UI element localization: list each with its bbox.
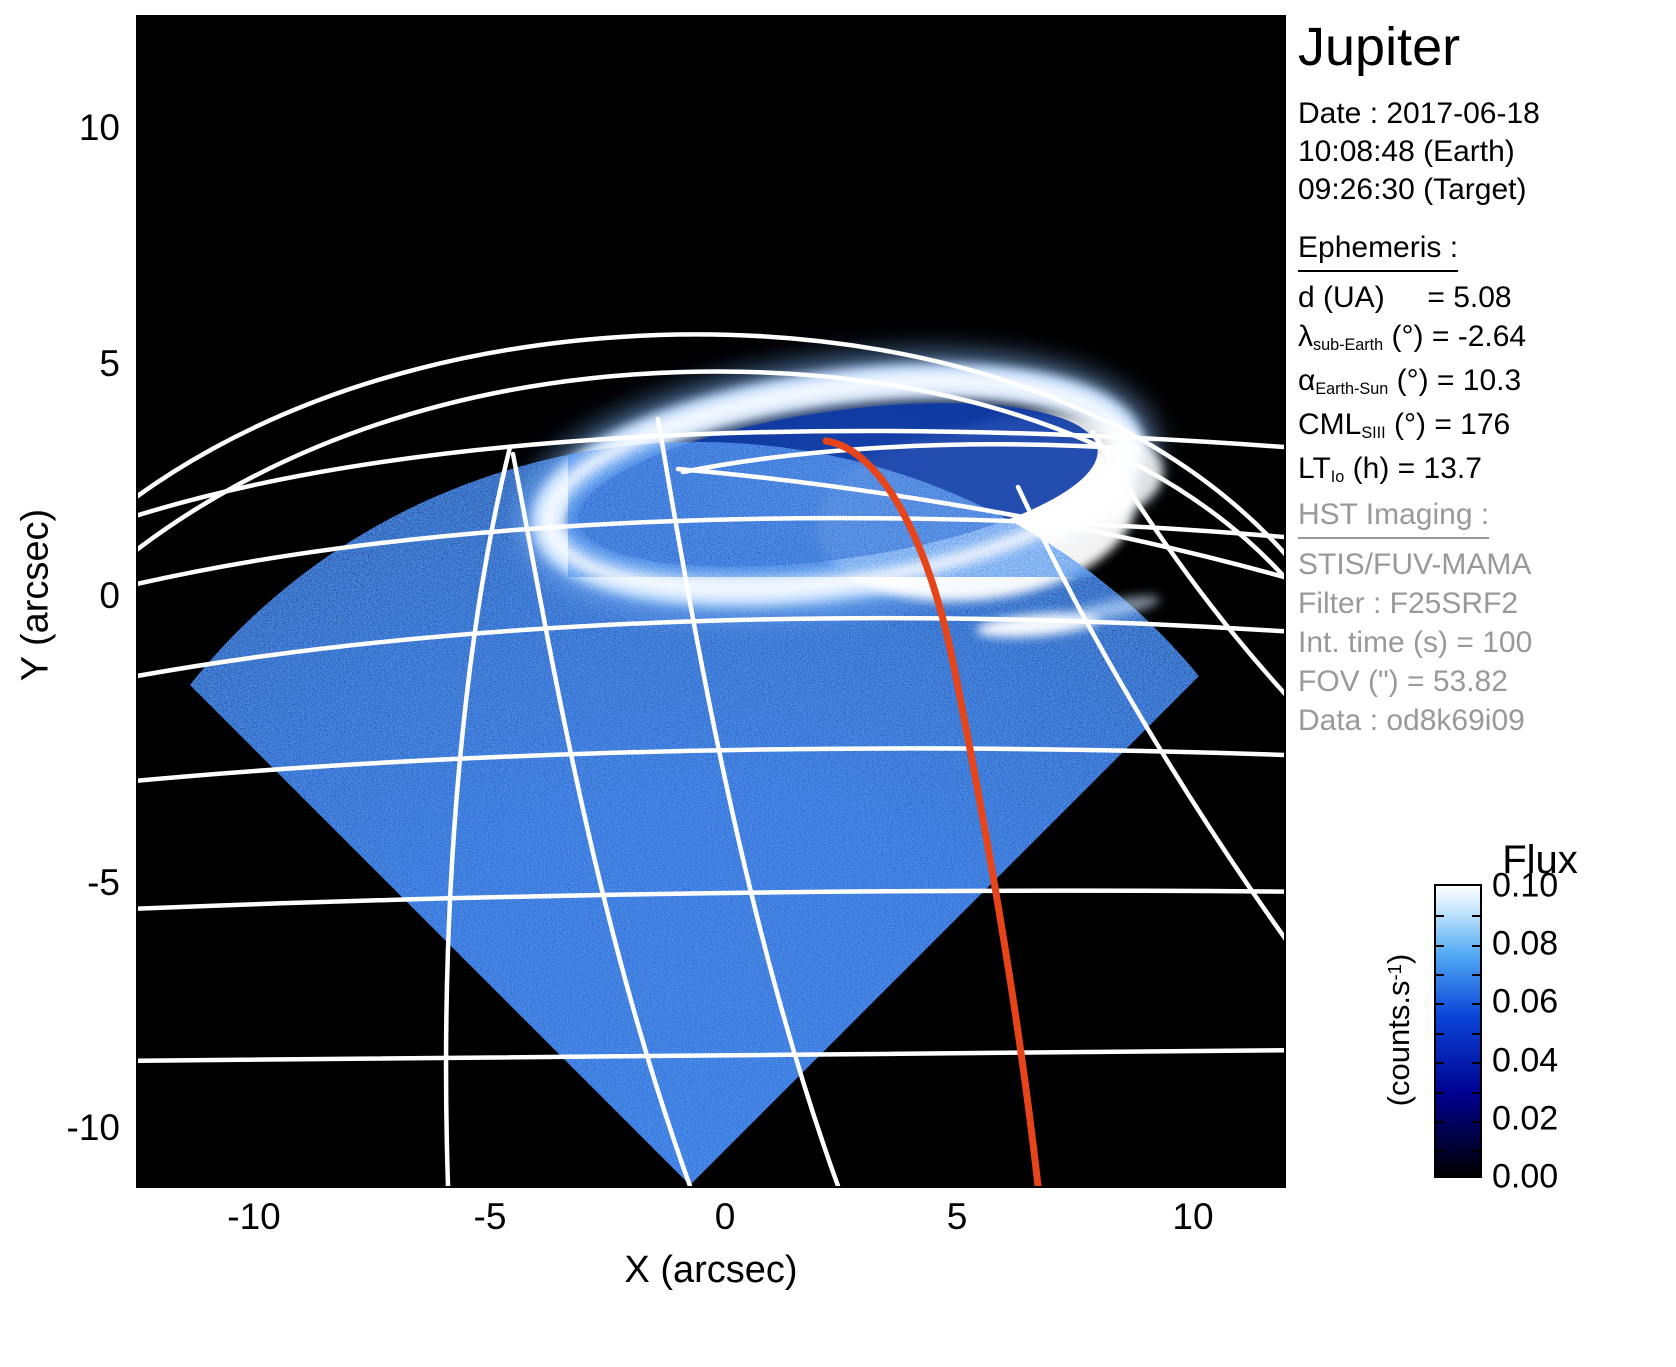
aurora-image-plot [138,17,1284,1186]
target-time-line: 09:26:30 (Target) [1298,171,1540,209]
ephemeris-subscript: Earth-Sun [1315,380,1388,398]
jupiter-fuv-image [138,17,1284,1186]
ephemeris-value: = 5.08 [1427,281,1511,314]
hst-filter: Filter : F25SRF2 [1298,584,1532,623]
page-title: Jupiter [1298,16,1460,78]
x-tick-label: -5 [410,1196,570,1238]
colorbar-tick-label: 0.08 [1492,925,1558,964]
hst-imaging-block: HST Imaging : STIS/FUV-MAMA Filter : F25… [1298,495,1532,740]
y-tick-label: 5 [0,343,120,385]
ephemeris-unit: (°) [1394,408,1426,441]
date-line: Date : 2017-06-18 [1298,95,1540,133]
ephemeris-row-io-local-time: LTIo (h) = 13.7 [1298,449,1526,493]
ephemeris-symbol: d [1298,281,1315,314]
ephemeris-value: = -2.64 [1432,320,1526,353]
ephemeris-symbol: α [1298,364,1315,397]
ephemeris-row-phase-angle: αEarth-Sun (°) = 10.3 [1298,361,1526,405]
x-axis-title: X (arcsec) [624,1249,797,1292]
colorbar-axis-title: (counts.s-1) [1381,954,1417,1107]
hst-data-id: Data : od8k69i09 [1298,701,1532,740]
y-tick-label: -10 [0,1107,120,1149]
x-tick-label: -10 [174,1196,334,1238]
ephemeris-row-sub-earth-lat: λsub-Earth (°) = -2.64 [1298,317,1526,361]
ephemeris-row-cml: CMLSIII (°) = 176 [1298,405,1526,449]
colorbar-tick-label: 0.06 [1492,983,1558,1022]
observation-date-block: Date : 2017-06-18 10:08:48 (Earth) 09:26… [1298,95,1540,209]
colorbar-tick-label: 0.00 [1492,1158,1558,1197]
ephemeris-block: Ephemeris : d (UA) = 5.08 λsub-Earth (°)… [1298,228,1526,493]
colorbar-tick-label: 0.10 [1492,867,1558,906]
colorbar-tick-label: 0.02 [1492,1100,1558,1139]
x-tick-label: 5 [877,1196,1037,1238]
ephemeris-unit: (h) [1353,452,1390,485]
ephemeris-unit: (°) [1392,320,1424,353]
info-panel: Jupiter Date : 2017-06-18 10:08:48 (Eart… [1298,0,1676,1367]
ephemeris-value: = 13.7 [1398,452,1482,485]
hst-integration-time: Int. time (s) = 100 [1298,623,1532,662]
x-tick-label: 0 [645,1196,805,1238]
colorbar-tick-label: 0.04 [1492,1042,1558,1081]
ephemeris-header: Ephemeris : [1298,228,1458,272]
ephemeris-symbol: λ [1298,320,1313,353]
ephemeris-subscript: Io [1331,468,1345,486]
hst-instrument: STIS/FUV-MAMA [1298,545,1532,584]
ephemeris-symbol: LT [1298,452,1331,485]
ephemeris-symbol: CML [1298,408,1361,441]
hst-fov: FOV (") = 53.82 [1298,662,1532,701]
ephemeris-unit: (°) [1397,364,1429,397]
y-tick-label: -5 [0,862,120,904]
colorbar-gradient [1434,884,1482,1178]
ephemeris-unit: (UA) [1323,281,1385,314]
x-tick-label: 10 [1113,1196,1273,1238]
hst-imaging-header: HST Imaging : [1298,495,1489,539]
ephemeris-value: = 176 [1434,408,1510,441]
earth-time-line: 10:08:48 (Earth) [1298,133,1540,171]
ephemeris-subscript: sub-Earth [1313,336,1383,354]
ephemeris-value: = 10.3 [1437,364,1521,397]
ephemeris-subscript: SIII [1361,424,1385,442]
y-tick-label: 10 [0,107,120,149]
y-axis-title: Y (arcsec) [15,445,58,745]
ephemeris-row-distance: d (UA) = 5.08 [1298,278,1526,317]
